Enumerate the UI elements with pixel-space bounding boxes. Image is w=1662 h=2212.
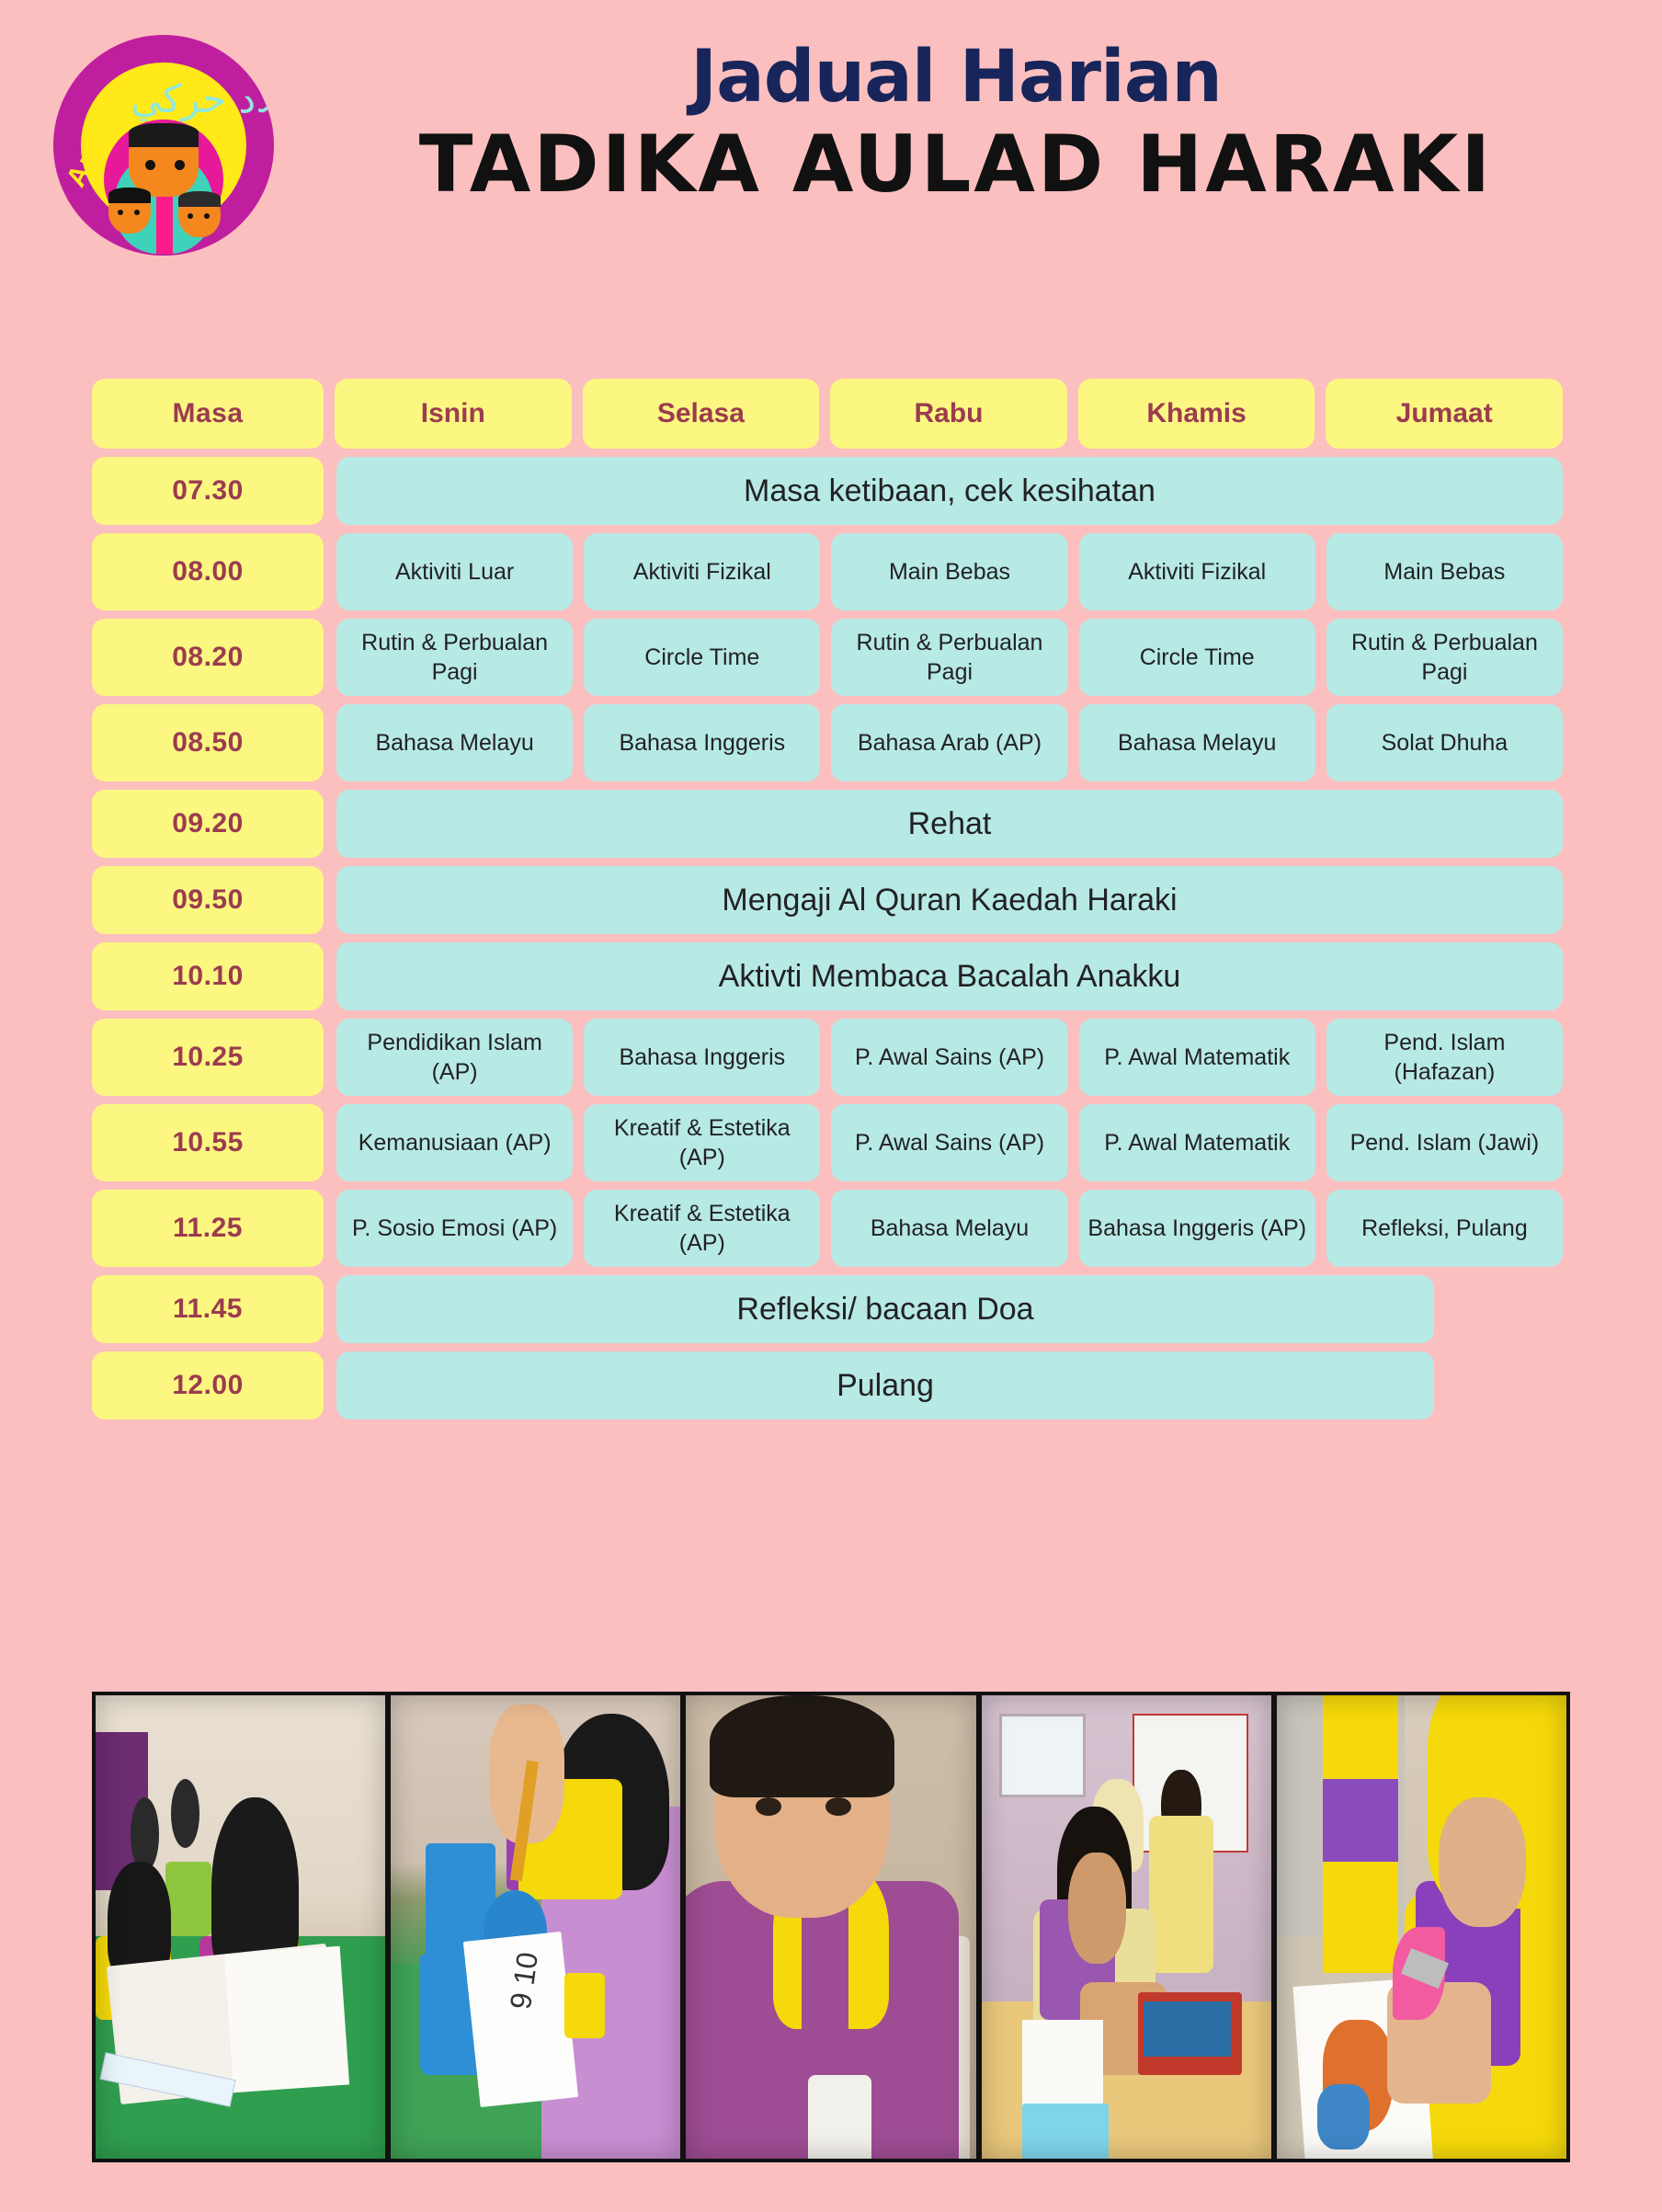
column-header-rabu: Rabu bbox=[830, 379, 1067, 449]
row-spacer bbox=[1434, 1275, 1563, 1343]
timetable-row: 10.10 Aktivti Membaca Bacalah Anakku bbox=[92, 942, 1563, 1010]
activity-cell: Circle Time bbox=[584, 619, 820, 696]
timetable-header-row: Masa Isnin Selasa Rabu Khamis Jumaat bbox=[92, 379, 1563, 449]
title-block: Jadual Harian TADIKA AULAD HARAKI bbox=[303, 40, 1609, 208]
activity-cell: Pendidikan Islam (AP) bbox=[336, 1019, 573, 1096]
timetable-row: 10.25 Pendidikan Islam (AP) Bahasa Ingge… bbox=[92, 1019, 1563, 1096]
time-label: 11.45 bbox=[92, 1275, 324, 1343]
timetable-row: 11.25 P. Sosio Emosi (AP) Kreatif & Este… bbox=[92, 1190, 1563, 1267]
row-spacer bbox=[1434, 1351, 1563, 1420]
photo-strip: 9 10 bbox=[92, 1692, 1570, 2162]
timetable-row: 08.00 Aktiviti Luar Aktiviti Fizikal Mai… bbox=[92, 533, 1563, 610]
activity-cell: Bahasa Melayu bbox=[831, 1190, 1067, 1267]
timetable-row: 10.55 Kemanusiaan (AP) Kreatif & Estetik… bbox=[92, 1104, 1563, 1181]
timetable-row: 09.20 Rehat bbox=[92, 790, 1563, 858]
activity-cell: Bahasa Melayu bbox=[1079, 704, 1315, 781]
column-header-masa: Masa bbox=[92, 379, 324, 449]
activity-span: Pulang bbox=[336, 1351, 1434, 1420]
timetable-row: 12.00 Pulang bbox=[92, 1351, 1563, 1420]
time-label: 09.20 bbox=[92, 790, 324, 858]
activity-cell: Refleksi, Pulang bbox=[1326, 1190, 1563, 1267]
activity-cell: Kemanusiaan (AP) bbox=[336, 1104, 573, 1181]
poster-header: أولاد حركي Aulad Jadual Harian TADIKA AU… bbox=[0, 0, 1662, 313]
activity-cell: Bahasa Inggeris bbox=[584, 704, 820, 781]
activity-cell: Kreatif & Estetika (AP) bbox=[584, 1190, 820, 1267]
activity-cell: Aktiviti Luar bbox=[336, 533, 573, 610]
logo-child-right-cap bbox=[178, 191, 221, 207]
activity-cell: Pend. Islam (Jawi) bbox=[1326, 1104, 1563, 1181]
activity-cell: Main Bebas bbox=[831, 533, 1067, 610]
photo-vignette bbox=[391, 1695, 680, 2159]
column-header-khamis: Khamis bbox=[1078, 379, 1315, 449]
poster-page: أولاد حركي Aulad Jadual Harian TADIKA AU… bbox=[0, 0, 1662, 2212]
activity-cell: Solat Dhuha bbox=[1326, 704, 1563, 781]
page-title-subtitle: Jadual Harian bbox=[303, 40, 1609, 116]
timetable-row: 08.50 Bahasa Melayu Bahasa Inggeris Baha… bbox=[92, 704, 1563, 781]
activity-span: Refleksi/ bacaan Doa bbox=[336, 1275, 1434, 1343]
photo-vignette bbox=[982, 1695, 1271, 2159]
activity-cell: Circle Time bbox=[1079, 619, 1315, 696]
logo-child-right-eye-1 bbox=[188, 213, 193, 219]
activity-cell: P. Awal Matematik bbox=[1079, 1104, 1315, 1181]
time-label: 10.25 bbox=[92, 1019, 324, 1096]
activity-cell: Pend. Islam (Hafazan) bbox=[1326, 1019, 1563, 1096]
activity-span: Masa ketibaan, cek kesihatan bbox=[336, 457, 1563, 525]
activity-span: Rehat bbox=[336, 790, 1563, 858]
time-label: 12.00 bbox=[92, 1351, 324, 1420]
page-title: TADIKA AULAD HARAKI bbox=[303, 121, 1609, 209]
photo-boy-closeup bbox=[686, 1695, 975, 2159]
activity-cell: Rutin & Perbualan Pagi bbox=[831, 619, 1067, 696]
time-label: 07.30 bbox=[92, 457, 324, 525]
activity-cell: Kreatif & Estetika (AP) bbox=[584, 1104, 820, 1181]
activity-cell: Rutin & Perbualan Pagi bbox=[336, 619, 573, 696]
photo-vignette bbox=[1277, 1695, 1566, 2159]
activity-cell: P. Awal Sains (AP) bbox=[831, 1019, 1067, 1096]
time-label: 08.00 bbox=[92, 533, 324, 610]
column-header-selasa: Selasa bbox=[583, 379, 820, 449]
time-label: 08.20 bbox=[92, 619, 324, 696]
photo-boy-writing-desk bbox=[982, 1695, 1271, 2159]
activity-cell: Main Bebas bbox=[1326, 533, 1563, 610]
activity-span: Mengaji Al Quran Kaedah Haraki bbox=[336, 866, 1563, 934]
time-label: 11.25 bbox=[92, 1190, 324, 1267]
photo-girl-scissors bbox=[1277, 1695, 1566, 2159]
timetable-row: 08.20 Rutin & Perbualan Pagi Circle Time… bbox=[92, 619, 1563, 696]
photo-writing-workbook bbox=[96, 1695, 385, 2159]
logo-pink-sash bbox=[156, 197, 173, 254]
activity-cell: P. Awal Sains (AP) bbox=[831, 1104, 1067, 1181]
logo-hair-adult bbox=[129, 123, 199, 147]
activity-cell: Bahasa Melayu bbox=[336, 704, 573, 781]
logo-eye-right bbox=[175, 160, 185, 170]
activity-cell: P. Sosio Emosi (AP) bbox=[336, 1190, 573, 1267]
aulad-haraki-logo: أولاد حركي Aulad bbox=[53, 35, 274, 256]
activity-cell: Bahasa Inggeris (AP) bbox=[1079, 1190, 1315, 1267]
activity-cell: Bahasa Inggeris bbox=[584, 1019, 820, 1096]
time-label: 08.50 bbox=[92, 704, 324, 781]
activity-cell: Rutin & Perbualan Pagi bbox=[1326, 619, 1563, 696]
time-label: 10.55 bbox=[92, 1104, 324, 1181]
photo-vignette bbox=[96, 1695, 385, 2159]
activity-span: Aktivti Membaca Bacalah Anakku bbox=[336, 942, 1563, 1010]
activity-cell: Aktiviti Fizikal bbox=[1079, 533, 1315, 610]
activity-cell: Aktiviti Fizikal bbox=[584, 533, 820, 610]
activity-cell: P. Awal Matematik bbox=[1079, 1019, 1315, 1096]
photo-number-cups: 9 10 bbox=[391, 1695, 680, 2159]
timetable-row: 07.30 Masa ketibaan, cek kesihatan bbox=[92, 457, 1563, 525]
timetable: Masa Isnin Selasa Rabu Khamis Jumaat 07.… bbox=[92, 379, 1563, 1428]
timetable-row: 09.50 Mengaji Al Quran Kaedah Haraki bbox=[92, 866, 1563, 934]
activity-cell: Bahasa Arab (AP) bbox=[831, 704, 1067, 781]
photo-vignette bbox=[686, 1695, 975, 2159]
time-label: 10.10 bbox=[92, 942, 324, 1010]
column-header-isnin: Isnin bbox=[335, 379, 572, 449]
column-header-jumaat: Jumaat bbox=[1326, 379, 1563, 449]
time-label: 09.50 bbox=[92, 866, 324, 934]
timetable-row: 11.45 Refleksi/ bacaan Doa bbox=[92, 1275, 1563, 1343]
logo-child-right-eye-2 bbox=[204, 213, 210, 219]
